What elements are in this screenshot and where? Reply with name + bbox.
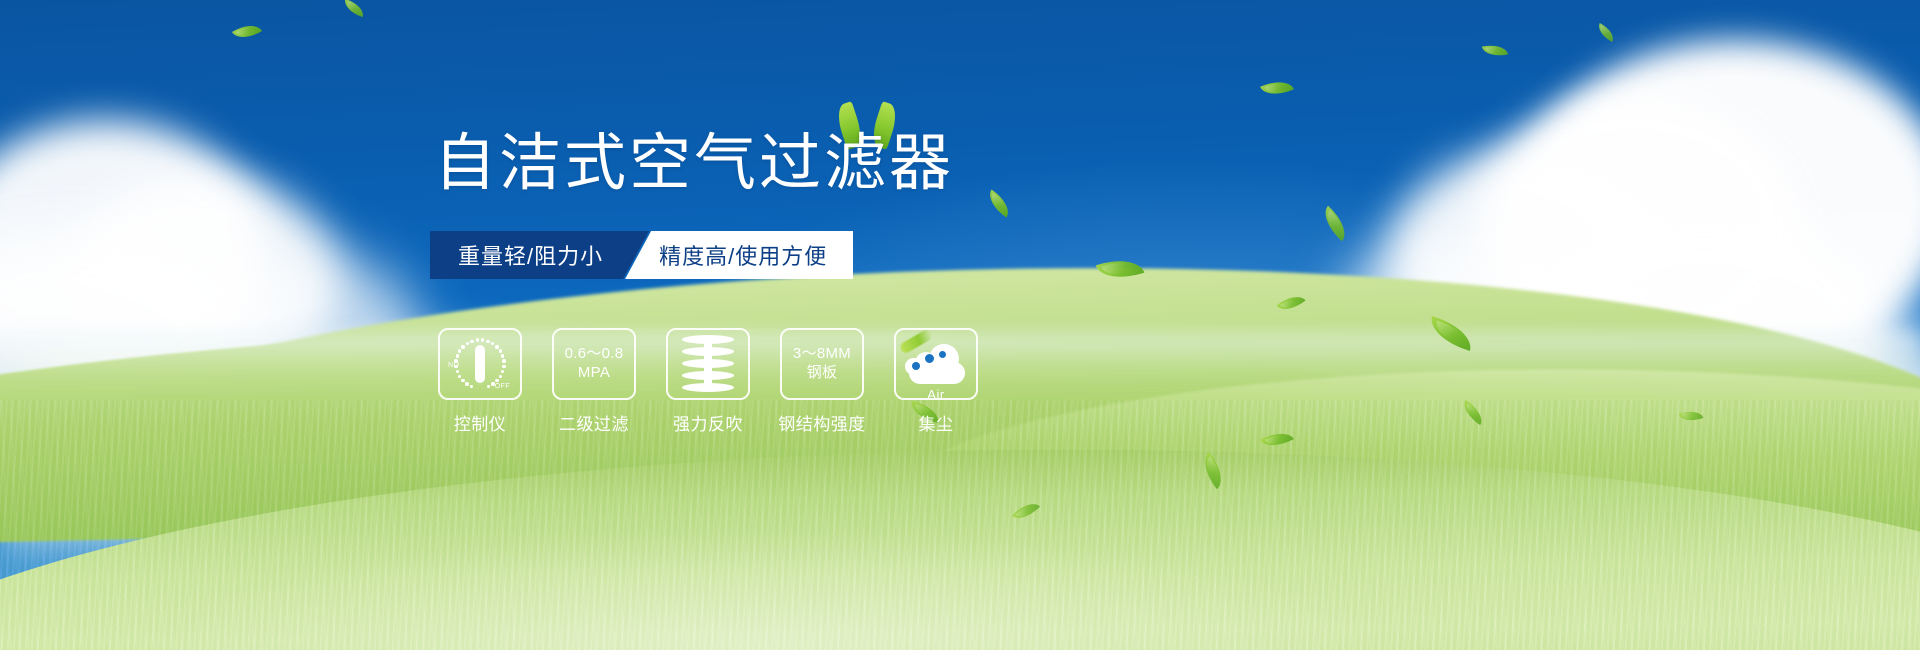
dial-tick [502, 365, 505, 368]
dial-tick [491, 342, 494, 345]
pressure-value-icon: 0.6〜0.8 [565, 345, 624, 364]
feature-label: 强力反吹 [673, 410, 743, 435]
feature-label: 二级过滤 [559, 410, 629, 435]
feature-item-steel[interactable]: 3〜8MM 钢板 钢结构强度 [780, 328, 864, 435]
dial-tick [476, 338, 479, 341]
feature-label: 集尘 [919, 410, 954, 435]
feature-item-filtration[interactable]: 0.6〜0.8 MPA 二级过滤 [552, 328, 636, 435]
cloud-hole [925, 354, 934, 363]
feature-label: 钢结构强度 [778, 410, 866, 435]
dial-tick [502, 359, 505, 362]
dial-tick [461, 345, 464, 348]
dial-tick [454, 365, 457, 368]
steel-plate-unit: 钢板 [807, 364, 838, 383]
air-cloud-icon: Air [903, 342, 969, 386]
dial-tick [495, 379, 498, 382]
tagline-left: 重量轻/阻力小 [430, 231, 649, 279]
dial-tick [481, 338, 484, 341]
feature-label: 控制仪 [454, 410, 507, 435]
feature-item-dust[interactable]: Air 集尘 [894, 328, 978, 435]
dial-tick [470, 340, 473, 343]
cartridge-ring [682, 371, 734, 380]
dial-tick [454, 359, 457, 362]
cartridge-ring [682, 383, 734, 392]
cloud-hole [939, 351, 946, 358]
dial-tick [499, 375, 502, 378]
dial-tick [501, 370, 504, 373]
feature-box: 3〜8MM 钢板 [780, 328, 864, 400]
cartridge-ring [682, 347, 734, 356]
cartridge-ring [682, 335, 734, 344]
banner-content: 自洁式空气过滤器 重量轻/阻力小 精度高/使用方便 NO OFF 控制仪 [0, 0, 1920, 650]
cartridge-ring [682, 359, 734, 368]
feature-box: NO OFF [438, 328, 522, 400]
dial-tick [458, 375, 461, 378]
dial-tick [461, 379, 464, 382]
page-title: 自洁式空气过滤器 [434, 133, 954, 195]
feature-box: Air [894, 328, 978, 400]
cloud-hole [912, 362, 920, 370]
dial-tick [495, 345, 498, 348]
dial-tick [486, 340, 489, 343]
dial-tick [465, 382, 468, 385]
dial-tick [458, 349, 461, 352]
dial-tick [470, 385, 473, 388]
control-dial-icon: NO OFF [449, 336, 511, 392]
product-banner: 自洁式空气过滤器 重量轻/阻力小 精度高/使用方便 NO OFF 控制仪 [0, 0, 1920, 650]
dial-tick [491, 382, 494, 385]
dial-tick [499, 349, 502, 352]
feature-box [666, 328, 750, 400]
dial-tick [501, 354, 504, 357]
dial-needle [475, 345, 485, 383]
pressure-unit: MPA [578, 364, 610, 383]
air-label: Air [903, 387, 969, 402]
dial-tick [466, 342, 469, 345]
dial-tick [456, 370, 459, 373]
feature-box: 0.6〜0.8 MPA [552, 328, 636, 400]
feature-tagline: 重量轻/阻力小 精度高/使用方便 [430, 231, 853, 279]
filter-cartridge-icon [682, 335, 734, 393]
feature-item-blowback[interactable]: 强力反吹 [666, 328, 750, 435]
feature-icon-row: NO OFF 控制仪 0.6〜0.8 MPA 二级过滤 [438, 328, 978, 435]
dial-tick [456, 354, 459, 357]
dial-label-off: OFF [495, 383, 510, 390]
steel-plate-icon: 3〜8MM [793, 345, 851, 364]
feature-item-control[interactable]: NO OFF 控制仪 [438, 328, 522, 435]
tagline-right: 精度高/使用方便 [625, 231, 853, 279]
green-streak-icon [899, 328, 934, 355]
dial-tick [487, 385, 490, 388]
